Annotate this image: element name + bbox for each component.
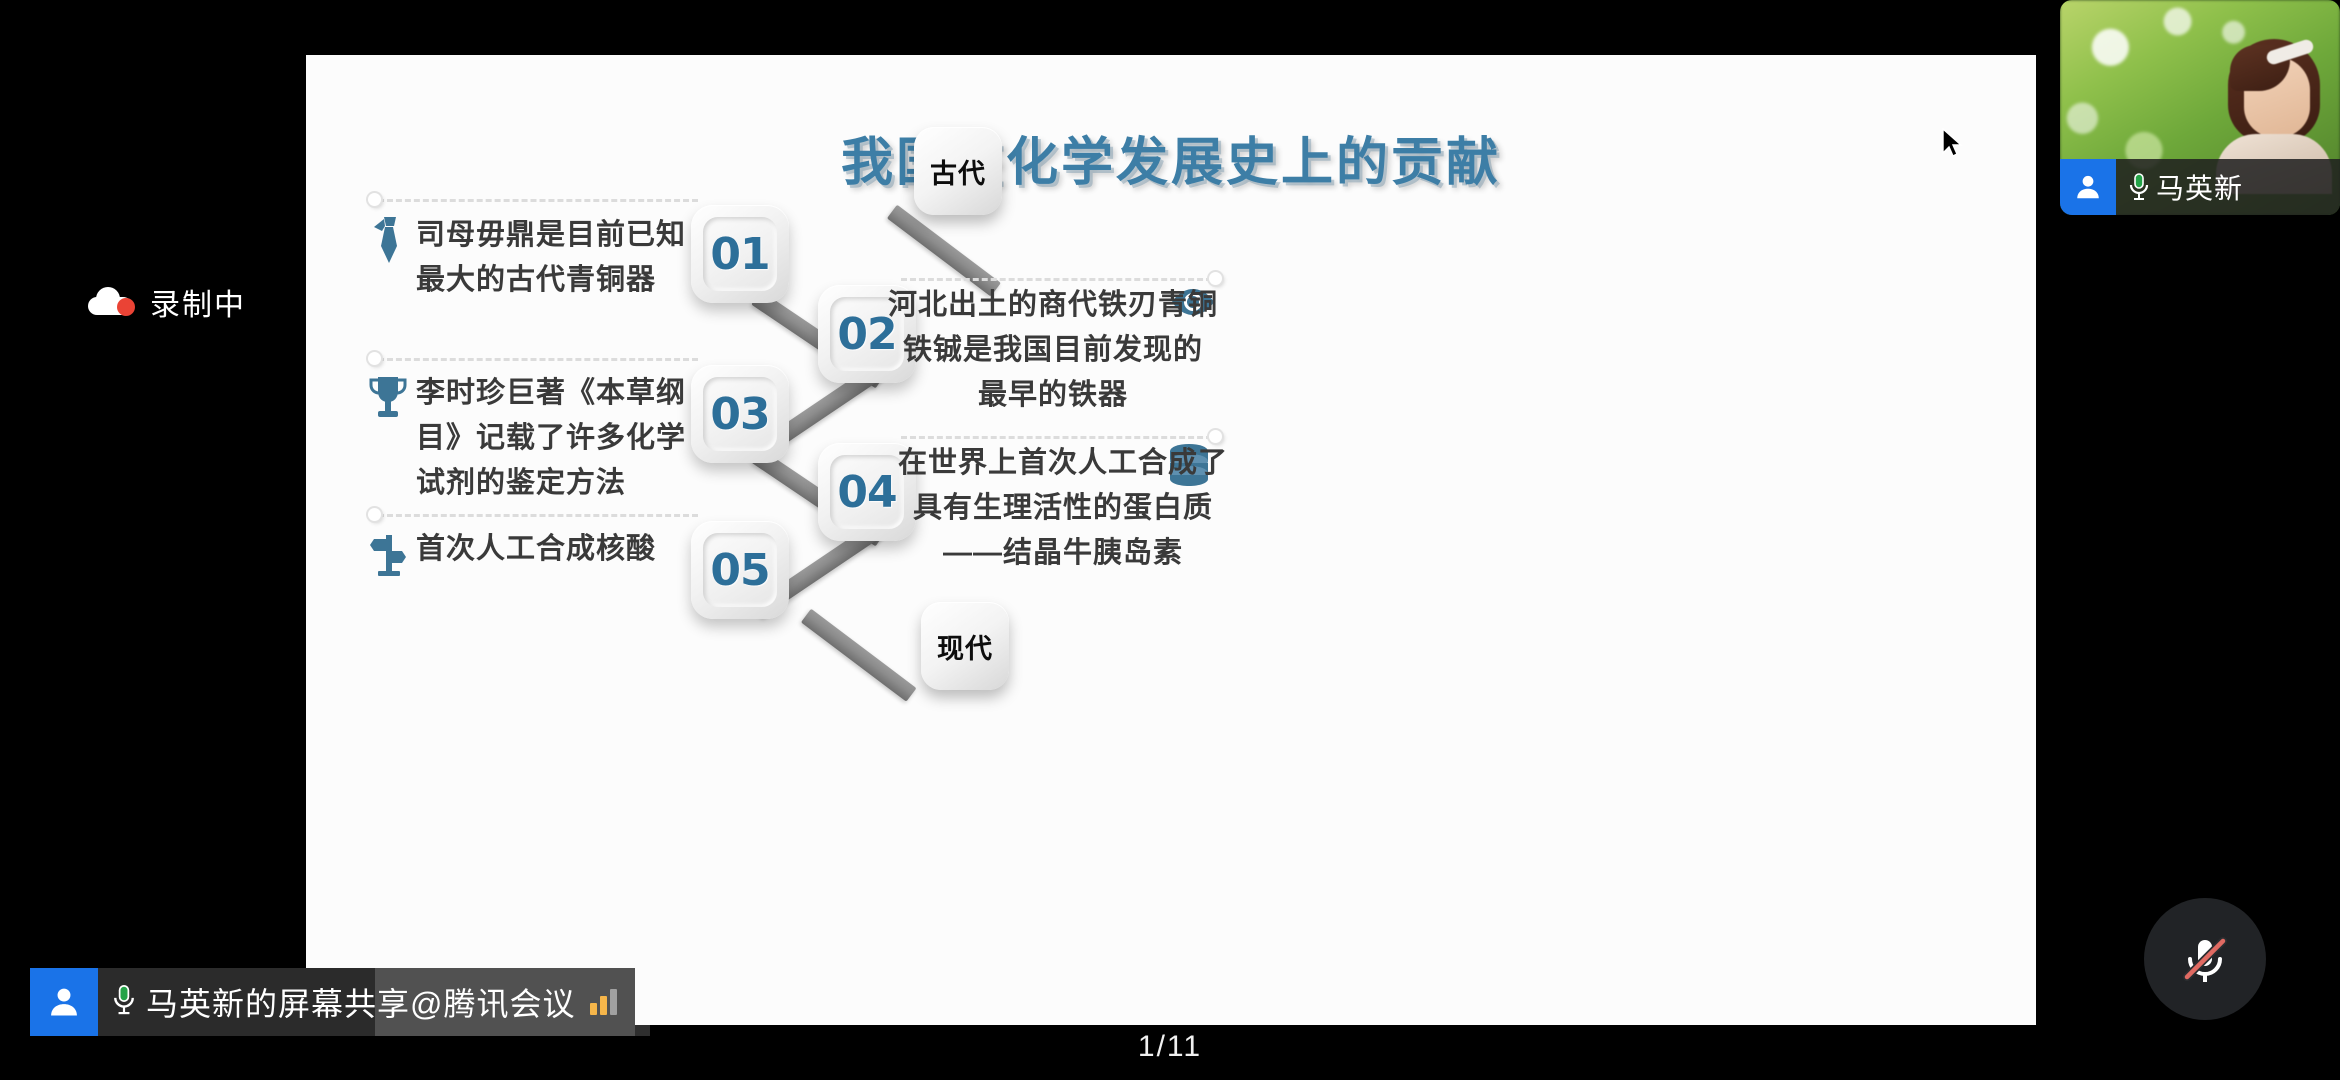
person-avatar-icon [2060,159,2116,215]
step-text-01-line-1: 司母毋鼎是目前已知 [416,213,746,258]
step-text-04: 在世界上首次人工合成了 具有生理活性的蛋白质 ——结晶牛胰岛素 [888,441,1238,576]
microphone-muted-button[interactable] [2144,898,2266,1020]
signal-bars-icon [590,989,617,1015]
step-text-03-line-2: 目》记载了许多化学 [416,416,746,461]
dash-dot-05 [368,508,381,521]
necktie-icon [372,217,406,268]
era-tile-ancient-label: 古代 [930,152,986,191]
screen-share-bar: 马英新的屏幕共享@腾讯会议 [30,968,635,1036]
participant-video-tile[interactable]: 马英新 [2060,0,2340,215]
connector-05-to-era-bottom [801,609,917,702]
recording-indicator: 录制中 [88,280,246,324]
step-text-03-line-1: 李时珍巨著《本草纲 [416,371,746,416]
step-text-01-line-2: 最大的古代青铜器 [416,258,746,303]
share-bar-text: 马英新的屏幕共享@腾讯会议 [146,979,576,1025]
person-avatar-icon [30,968,98,1036]
dash-rule-03 [378,358,698,361]
cloud-record-icon [88,287,134,317]
dash-dot-01 [368,193,381,206]
step-text-02-line-1: 河北出土的商代铁刃青铜 [888,283,1218,328]
shared-slide[interactable]: 我国在化学发展史上的贡献 古代 现代 01 02 03 04 05 [306,55,2036,1025]
dash-rule-02 [901,278,1221,281]
step-text-03: 李时珍巨著《本草纲 目》记载了许多化学 试剂的鉴定方法 [416,371,746,506]
step-text-01: 司母毋鼎是目前已知 最大的古代青铜器 [416,213,746,303]
era-tile-ancient: 古代 [914,127,1002,215]
trophy-icon [368,375,408,426]
signpost-icon [370,533,408,582]
mouse-pointer-icon [1941,128,1967,160]
page-indicator: 1/11 [0,1030,2340,1064]
microphone-active-icon [112,983,136,1022]
step-text-04-line-1: 在世界上首次人工合成了 [888,441,1238,486]
era-tile-modern-label: 现代 [937,627,993,666]
microphone-active-icon [2128,172,2150,202]
step-text-02-line-2: 铁铖是我国目前发现的 [888,328,1218,373]
dash-rule-05 [378,514,698,517]
era-tile-modern: 现代 [921,602,1009,690]
step-text-04-line-3: ——结晶牛胰岛素 [888,531,1238,576]
step-text-02-line-3: 最早的铁器 [888,373,1218,418]
meeting-screen: 录制中 我国在化学发展史上的贡献 古代 现代 01 02 03 04 [0,0,2340,1080]
dash-rule-04 [901,436,1221,439]
step-text-02: 河北出土的商代铁刃青铜 铁铖是我国目前发现的 最早的铁器 [888,283,1218,418]
dash-dot-03 [368,352,381,365]
video-tile-footer: 马英新 [2060,159,2340,215]
step-text-03-line-3: 试剂的鉴定方法 [416,461,746,506]
slide-title: 我国在化学发展史上的贡献 [306,120,2036,195]
recording-label: 录制中 [150,280,246,324]
microphone-muted-icon [2174,928,2236,990]
step-text-04-line-2: 具有生理活性的蛋白质 [888,486,1238,531]
step-text-05-line-1: 首次人工合成核酸 [416,527,746,572]
dash-rule-01 [378,199,698,202]
video-tile-name: 马英新 [2156,167,2243,207]
step-text-05: 首次人工合成核酸 [416,527,746,572]
